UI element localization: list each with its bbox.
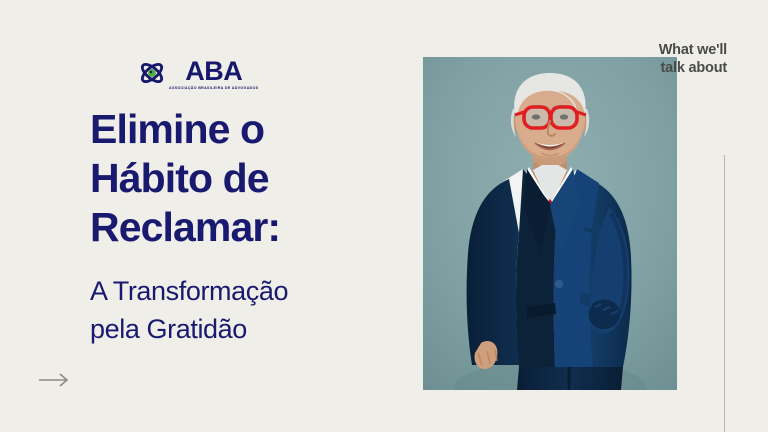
aba-tagline: ASSOCIAÇÃO BRASILEIRA DE ADVOGADOS: [169, 87, 259, 91]
subheadline-line-2: pela Gratidão: [90, 310, 420, 348]
kicker-line-2: talk about: [517, 59, 727, 77]
kicker-line-1: What we'll: [517, 41, 727, 59]
aba-logo: ABA ASSOCIAÇÃO BRASILEIRA DE ADVOGADOS: [139, 59, 259, 91]
headline-line-1: Elimine o: [90, 105, 410, 154]
speaker-portrait: [423, 57, 677, 390]
slide-subheadline: A Transformação pela Gratidão: [90, 272, 420, 349]
headline-line-2: Hábito de: [90, 154, 410, 203]
aba-logo-text: ABA ASSOCIAÇÃO BRASILEIRA DE ADVOGADOS: [169, 59, 259, 91]
aba-wordmark: ABA: [185, 59, 242, 85]
section-kicker: What we'll talk about: [517, 41, 727, 78]
headline-line-3: Reclamar:: [90, 203, 410, 252]
arrow-right-icon[interactable]: [38, 371, 70, 389]
subheadline-line-1: A Transformação: [90, 272, 420, 310]
portrait-illustration: [423, 57, 677, 390]
aba-atom-icon: [139, 60, 165, 86]
vertical-divider: [724, 155, 725, 432]
slide-headline: Elimine o Hábito de Reclamar:: [90, 105, 410, 251]
presentation-slide: ABA ASSOCIAÇÃO BRASILEIRA DE ADVOGADOS E…: [0, 0, 768, 432]
